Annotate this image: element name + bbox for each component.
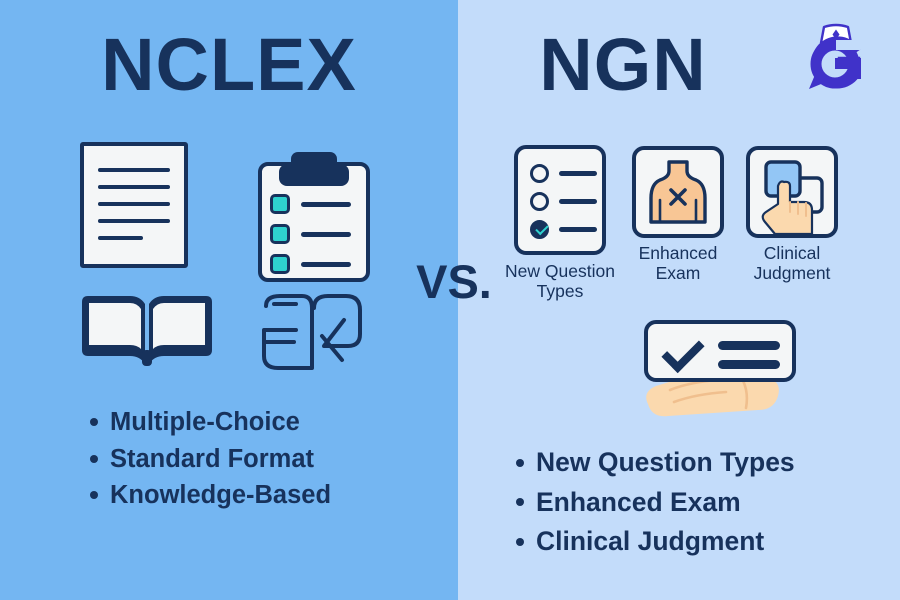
brain-outline-icon xyxy=(252,290,372,376)
clinical-judgment-caption: Clinical Judgment xyxy=(730,243,854,283)
clipboard-row xyxy=(270,254,351,274)
answer-line xyxy=(718,360,780,369)
clipboard-line xyxy=(301,262,351,267)
answer-line xyxy=(559,227,597,233)
list-item: Standard Format xyxy=(88,441,331,478)
radio-selected-icon xyxy=(530,220,549,239)
question-row xyxy=(530,164,597,183)
list-item: Enhanced Exam xyxy=(514,483,795,523)
left-bullet-list: Multiple-Choice Standard Format Knowledg… xyxy=(88,404,331,514)
radio-unselected-icon xyxy=(530,192,549,211)
document-line xyxy=(98,236,143,240)
clinical-judgment-card xyxy=(746,146,838,238)
checkbox-icon xyxy=(270,254,290,274)
list-item: Knowledge-Based xyxy=(88,477,331,514)
document-icon xyxy=(80,142,188,268)
question-row xyxy=(530,220,597,239)
answer-line xyxy=(559,199,597,205)
new-question-types-card xyxy=(514,145,606,255)
document-line xyxy=(98,168,170,172)
clipboard-row xyxy=(270,194,351,214)
list-item: Multiple-Choice xyxy=(88,404,331,441)
list-item: New Question Types xyxy=(514,443,795,483)
clipboard-line xyxy=(301,202,351,207)
list-item: Clinical Judgment xyxy=(514,522,795,562)
right-bullet-list: New Question Types Enhanced Exam Clinica… xyxy=(514,443,795,562)
enhanced-exam-caption: Enhanced Exam xyxy=(620,243,736,283)
new-question-types-caption: New Question Types xyxy=(494,261,626,301)
checkbox-icon xyxy=(270,224,290,244)
open-book-icon xyxy=(78,290,216,370)
clipboard-checklist-icon xyxy=(248,152,380,282)
document-line xyxy=(98,219,170,223)
checkbox-icon xyxy=(270,194,290,214)
question-row xyxy=(530,192,597,211)
document-line xyxy=(98,185,170,189)
clipboard-clamp xyxy=(291,152,337,180)
left-title-nclex: NCLEX xyxy=(0,28,458,102)
document-line xyxy=(98,202,170,206)
checkmark-icon xyxy=(661,330,704,373)
left-icon-group xyxy=(0,130,458,400)
clipboard-row xyxy=(270,224,351,244)
answer-line xyxy=(718,341,780,350)
radio-unselected-icon xyxy=(530,164,549,183)
clipboard-line xyxy=(301,232,351,237)
enhanced-exam-card xyxy=(632,146,724,238)
answer-check-card xyxy=(644,320,796,382)
infographic-canvas: NCLEX NGN VS. xyxy=(0,0,900,600)
answer-line xyxy=(559,171,597,177)
